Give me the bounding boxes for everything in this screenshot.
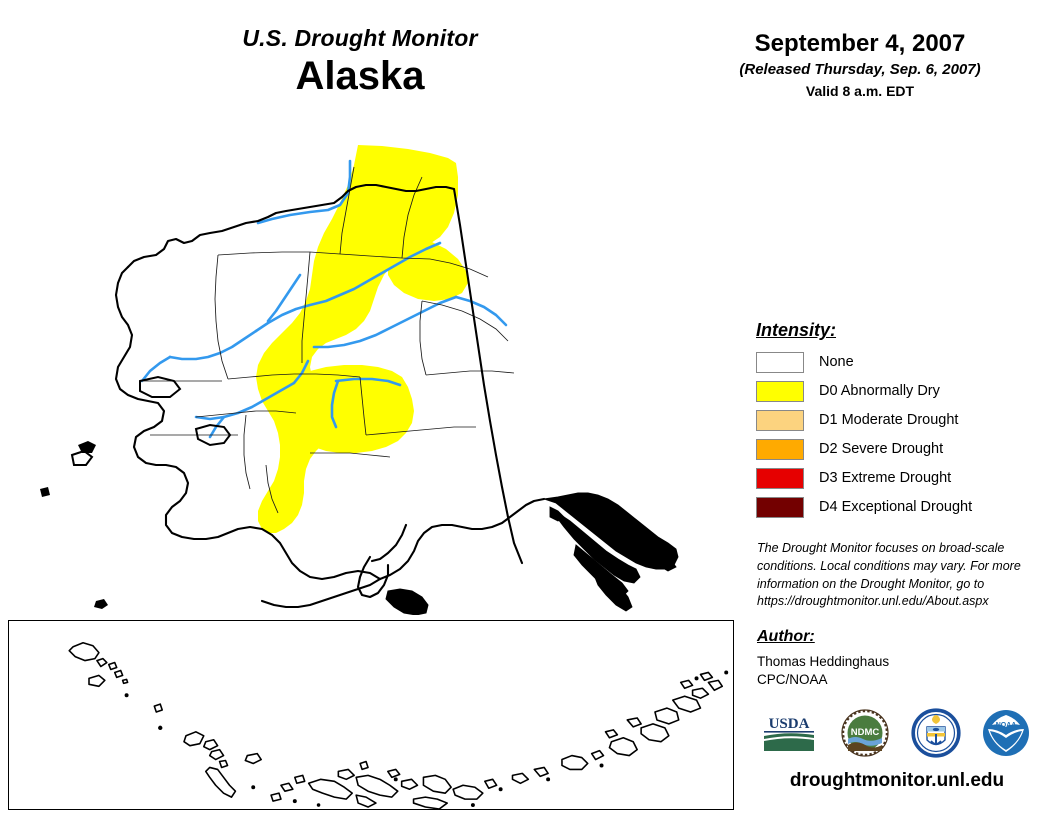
- legend-label-d4: D4 Exceptional Drought: [819, 499, 972, 515]
- author-name: Thomas Heddinghaus: [757, 653, 1027, 671]
- southeast-panhandle: [544, 493, 678, 611]
- intensity-legend: Intensity: None D0 Abnormally Dry D1 Mod…: [756, 320, 1036, 524]
- legend-swatch-d4: [756, 497, 804, 518]
- date-block: September 4, 2007 (Released Thursday, Se…: [700, 30, 1020, 99]
- usda-logo: USDA: [758, 711, 820, 760]
- legend-row-d0: D0 Abnormally Dry: [756, 379, 1036, 403]
- legend-swatch-d0: [756, 381, 804, 402]
- aleutian-island-shapes: [69, 643, 722, 809]
- state-title: Alaska: [150, 53, 570, 99]
- release-date: (Released Thursday, Sep. 6, 2007): [700, 61, 1020, 79]
- legend-label-d3: D3 Extreme Drought: [819, 470, 951, 486]
- map-date: September 4, 2007: [700, 30, 1020, 58]
- legend-swatch-none: [756, 352, 804, 373]
- legend-label-d1: D1 Moderate Drought: [819, 412, 958, 428]
- legend-title: Intensity:: [756, 320, 1036, 341]
- author-block: Author: Thomas Heddinghaus CPC/NOAA: [757, 628, 1027, 689]
- valid-time: Valid 8 a.m. EDT: [700, 83, 1020, 100]
- legend-label-none: None: [819, 354, 854, 370]
- legend-row-d3: D3 Extreme Drought: [756, 466, 1036, 490]
- legend-row-d2: D2 Severe Drought: [756, 437, 1036, 461]
- noaa-logo: NOAA: [982, 709, 1030, 762]
- disclaimer-text: The Drought Monitor focuses on broad-sca…: [757, 540, 1027, 611]
- website-url: droughtmonitor.unl.edu: [757, 770, 1037, 792]
- legend-swatch-d2: [756, 439, 804, 460]
- bering-islands: [72, 377, 230, 465]
- western-islands: [40, 441, 126, 615]
- svg-text:USDA: USDA: [769, 716, 810, 732]
- legend-swatch-d3: [756, 468, 804, 489]
- ndmc-logo: NDMC: [841, 709, 889, 762]
- legend-swatch-d1: [756, 410, 804, 431]
- aleutian-islands-inset: [8, 620, 734, 810]
- alaska-main-map: [10, 115, 740, 615]
- author-heading: Author:: [757, 628, 1027, 646]
- legend-row-none: None: [756, 350, 1036, 374]
- title-block: U.S. Drought Monitor Alaska: [150, 26, 570, 99]
- page-title: U.S. Drought Monitor: [150, 26, 570, 51]
- svg-text:NOAA: NOAA: [996, 722, 1017, 729]
- kodiak-island: [386, 589, 428, 615]
- svg-text:NDMC: NDMC: [851, 727, 880, 738]
- drought-monitor-page: U.S. Drought Monitor Alaska September 4,…: [0, 0, 1056, 816]
- agency-logos: USDA NDMC: [758, 706, 1030, 764]
- legend-label-d0: D0 Abnormally Dry: [819, 383, 940, 399]
- author-affiliation: CPC/NOAA: [757, 671, 1027, 689]
- university-seal-logo: [911, 708, 961, 763]
- legend-row-d1: D1 Moderate Drought: [756, 408, 1036, 432]
- legend-label-d2: D2 Severe Drought: [819, 441, 943, 457]
- legend-row-d4: D4 Exceptional Drought: [756, 495, 1036, 519]
